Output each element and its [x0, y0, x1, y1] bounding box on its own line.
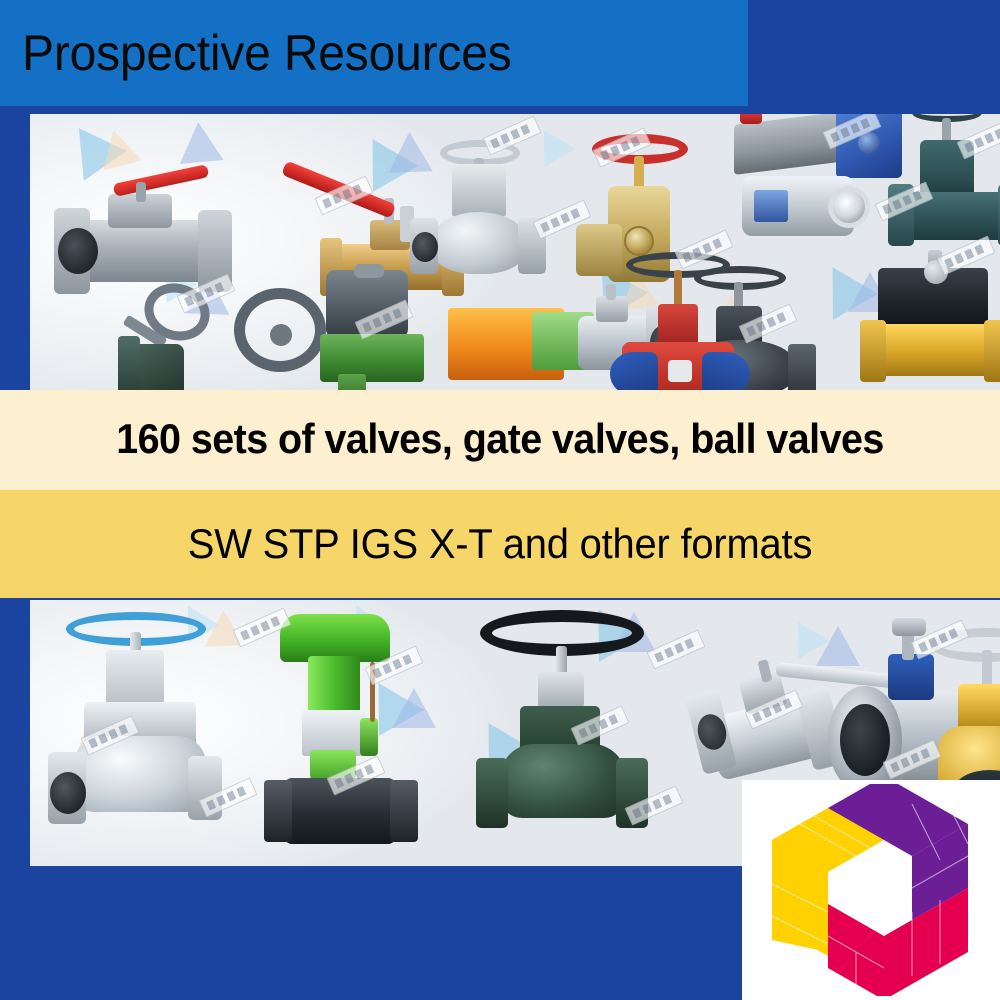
caption-secondary-text: SW STP IGS X-T and other formats — [25, 515, 975, 573]
header-banner: Prospective Resources — [0, 0, 748, 106]
chevron-decor-icon — [176, 120, 223, 164]
logo-box — [742, 780, 1000, 1000]
valve-brass-solenoid-black-coil — [856, 250, 1000, 392]
hexagon-cube-logo-icon — [764, 784, 976, 996]
poster-canvas: Prospective Resources 160 sets of valves… — [0, 0, 1000, 1000]
valve-electric-actuated-butterfly — [228, 264, 458, 392]
page-title: Prospective Resources — [22, 18, 512, 88]
caption-primary-text: 160 sets of valves, gate valves, ball va… — [30, 411, 970, 467]
valve-green-pneumatic-control — [240, 600, 440, 860]
valve-collage-top — [28, 114, 1000, 392]
caption-band-secondary: SW STP IGS X-T and other formats — [0, 490, 1000, 598]
caption-band-primary: 160 sets of valves, gate valves, ball va… — [0, 390, 1000, 490]
